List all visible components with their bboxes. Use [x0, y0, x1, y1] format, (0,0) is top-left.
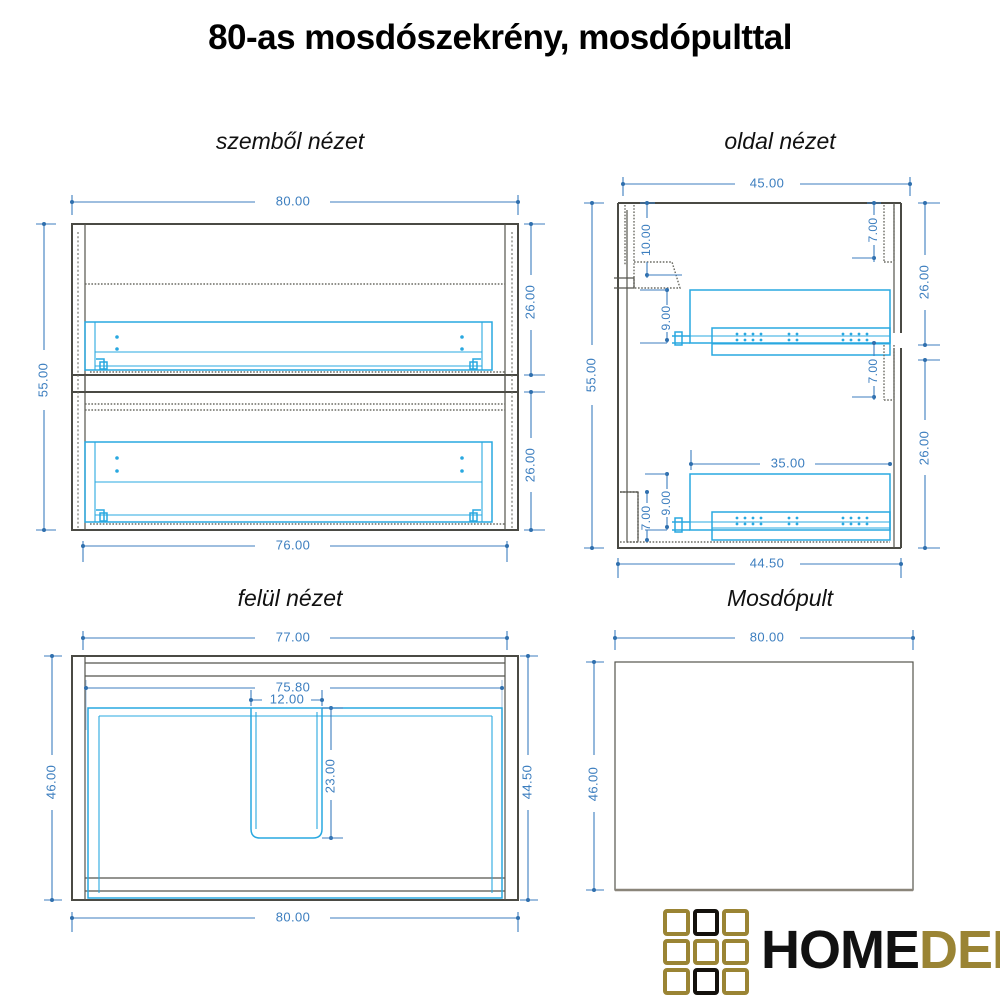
top-dim-12: 12.00 [249, 690, 324, 706]
side-dim-7-lower-label: 7.00 [639, 506, 653, 531]
countertop-view-drawing: 80.00 46.00 [585, 629, 915, 892]
side-dim-7-upper-label: 7.00 [866, 218, 880, 243]
side-dim-44-50-label: 44.50 [750, 555, 785, 570]
side-dim-44-50: 44.50 [616, 555, 903, 578]
top-dim-77: 77.00 [81, 629, 509, 650]
front-dim-upper-26: 26.00 [522, 222, 545, 377]
top-dim-46-label: 46.00 [43, 765, 58, 800]
top-dim-44-50-label: 44.50 [519, 765, 534, 800]
side-dim-26-lower-label: 26.00 [916, 431, 931, 466]
logo-text-depo: DEPO [919, 920, 1000, 980]
logo-cell-7 [663, 968, 690, 995]
front-lower-drawer [85, 442, 492, 522]
side-upper-drawer [672, 290, 890, 355]
countertop-dim-46: 46.00 [585, 660, 604, 892]
top-dim-80-label: 80.00 [276, 909, 311, 924]
front-dim-width-bottom: 76.00 [81, 537, 509, 562]
side-dim-7-upper: 7.00 [852, 201, 894, 262]
side-dim-10: 10.00 [639, 201, 682, 278]
top-dim-23: 23.00 [322, 706, 343, 840]
side-upper-slide-holes [736, 333, 869, 342]
front-dim-lower-26: 26.00 [522, 390, 545, 532]
logo-text-home: HOME [761, 920, 919, 980]
logo-cell-4 [663, 939, 690, 966]
homedepo-logo[interactable]: HOMEDEPO [663, 905, 993, 997]
drawing-sheet: 80-as mosdószekrény, mosdópulttal szembő… [0, 0, 1000, 1000]
top-dim-44-50: 44.50 [519, 654, 538, 902]
top-dim-12-label: 12.00 [270, 691, 305, 706]
side-dim-55-label: 55.00 [583, 358, 598, 393]
side-dim-9-lower-label: 9.00 [659, 491, 673, 516]
front-dim-width-top: 80.00 [70, 193, 520, 215]
logo-cell-2 [693, 909, 720, 936]
side-dim-35: 35.00 [689, 450, 892, 470]
top-dim-23-label: 23.00 [322, 759, 337, 794]
front-view-drawing: 80.00 55.00 [35, 193, 545, 562]
logo-cell-5 [693, 939, 720, 966]
top-view-drawing: 77.00 46.00 75.80 [43, 629, 538, 932]
front-dim-80-label: 80.00 [276, 193, 311, 208]
logo-grid-icon [663, 909, 749, 995]
countertop-dim-80: 80.00 [613, 629, 915, 650]
technical-drawing: .dim { stroke:#3c7ebf; stroke-width:1.1;… [0, 0, 1000, 1000]
logo-cell-3 [722, 909, 749, 936]
front-dim-76-label: 76.00 [276, 537, 311, 552]
side-dim-26-upper-label: 26.00 [916, 265, 931, 300]
side-dim-9-upper: 9.00 [640, 288, 673, 343]
side-view-drawing: 45.00 55.00 [583, 175, 940, 578]
countertop-dim-46-label: 46.00 [585, 767, 600, 802]
top-dim-46: 46.00 [43, 654, 62, 902]
side-dim-7-middle: 7.00 [852, 341, 894, 400]
front-dim-height-left: 55.00 [35, 222, 56, 532]
logo-cell-8 [693, 968, 720, 995]
logo-cell-9 [722, 968, 749, 995]
side-dim-45-label: 45.00 [750, 175, 785, 190]
side-dim-7-middle-label: 7.00 [866, 359, 880, 384]
front-dim-55-label: 55.00 [35, 363, 50, 398]
front-dim-26-upper-label: 26.00 [522, 285, 537, 320]
side-dim-height-left: 55.00 [583, 201, 604, 550]
top-sink-cutout [251, 708, 322, 838]
countertop-dim-80-label: 80.00 [750, 629, 785, 644]
side-dim-7-lower: 7.00 [620, 490, 653, 542]
side-dim-26-lower: 26.00 [916, 358, 940, 550]
logo-wordmark: HOMEDEPO [761, 915, 1000, 985]
front-upper-drawer [85, 322, 492, 370]
logo-cell-1 [663, 909, 690, 936]
top-dim-80: 80.00 [70, 909, 520, 932]
front-dim-26-lower-label: 26.00 [522, 448, 537, 483]
side-dim-35-label: 35.00 [771, 455, 806, 470]
top-dim-77-label: 77.00 [276, 629, 311, 644]
side-dim-10-label: 10.00 [639, 224, 653, 256]
side-dim-9-upper-label: 9.00 [659, 306, 673, 331]
side-dim-depth-top: 45.00 [621, 175, 912, 196]
logo-cell-6 [722, 939, 749, 966]
side-lower-slide-holes [736, 517, 869, 526]
side-lower-drawer [672, 474, 890, 540]
side-dim-26-upper: 26.00 [916, 201, 940, 347]
